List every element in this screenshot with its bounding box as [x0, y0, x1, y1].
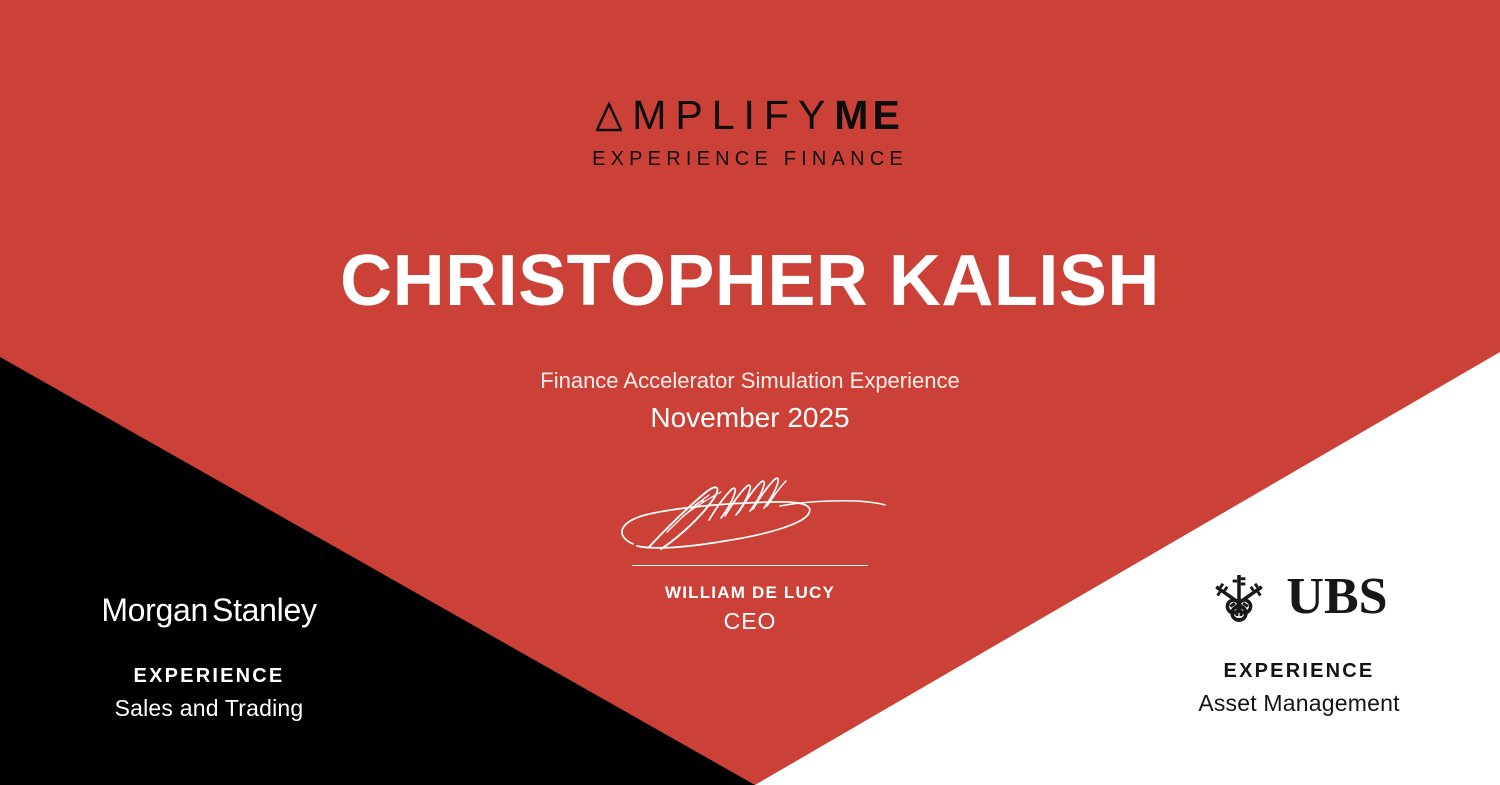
- ubs-track: Asset Management: [1134, 689, 1464, 717]
- signature-divider: [632, 565, 868, 566]
- signer-name: WILLIAM DE LUCY: [600, 583, 900, 603]
- logo-tagline: EXPERIENCE FINANCE: [0, 148, 1500, 171]
- certificate-canvas: MPLIFYME EXPERIENCE FINANCE CHRISTOPHER …: [0, 0, 1500, 785]
- program-title: Finance Accelerator Simulation Experienc…: [0, 366, 1500, 396]
- triangle-a-icon: [596, 102, 622, 132]
- handwritten-signature-icon: [605, 472, 895, 560]
- ubs-lockup: UBS: [1134, 565, 1464, 629]
- morgan-stanley-word-second: Stanley: [212, 592, 317, 628]
- signature-block: WILLIAM DE LUCY CEO: [600, 472, 900, 635]
- partner-morgan-stanley: MorganStanley EXPERIENCE Sales and Tradi…: [44, 590, 374, 722]
- ubs-experience-label: EXPERIENCE: [1134, 659, 1464, 683]
- certificate-date: November 2025: [0, 400, 1500, 436]
- morgan-stanley-experience-label: EXPERIENCE: [44, 664, 374, 688]
- amplifyme-wordmark: MPLIFYME: [596, 92, 904, 138]
- morgan-stanley-word-first: Morgan: [101, 592, 208, 628]
- amplifyme-logo: MPLIFYME EXPERIENCE FINANCE: [0, 92, 1500, 171]
- recipient-name: CHRISTOPHER KALISH: [0, 238, 1500, 324]
- ubs-wordmark: UBS: [1286, 571, 1387, 623]
- morgan-stanley-wordmark: MorganStanley: [44, 590, 374, 630]
- partner-ubs: UBS EXPERIENCE Asset Management: [1134, 565, 1464, 717]
- logo-amplify-text: MPLIFY: [632, 92, 834, 138]
- morgan-stanley-track: Sales and Trading: [44, 694, 374, 722]
- logo-me-text: ME: [834, 92, 904, 138]
- signer-title: CEO: [600, 608, 900, 635]
- ubs-three-keys-icon: [1210, 568, 1268, 626]
